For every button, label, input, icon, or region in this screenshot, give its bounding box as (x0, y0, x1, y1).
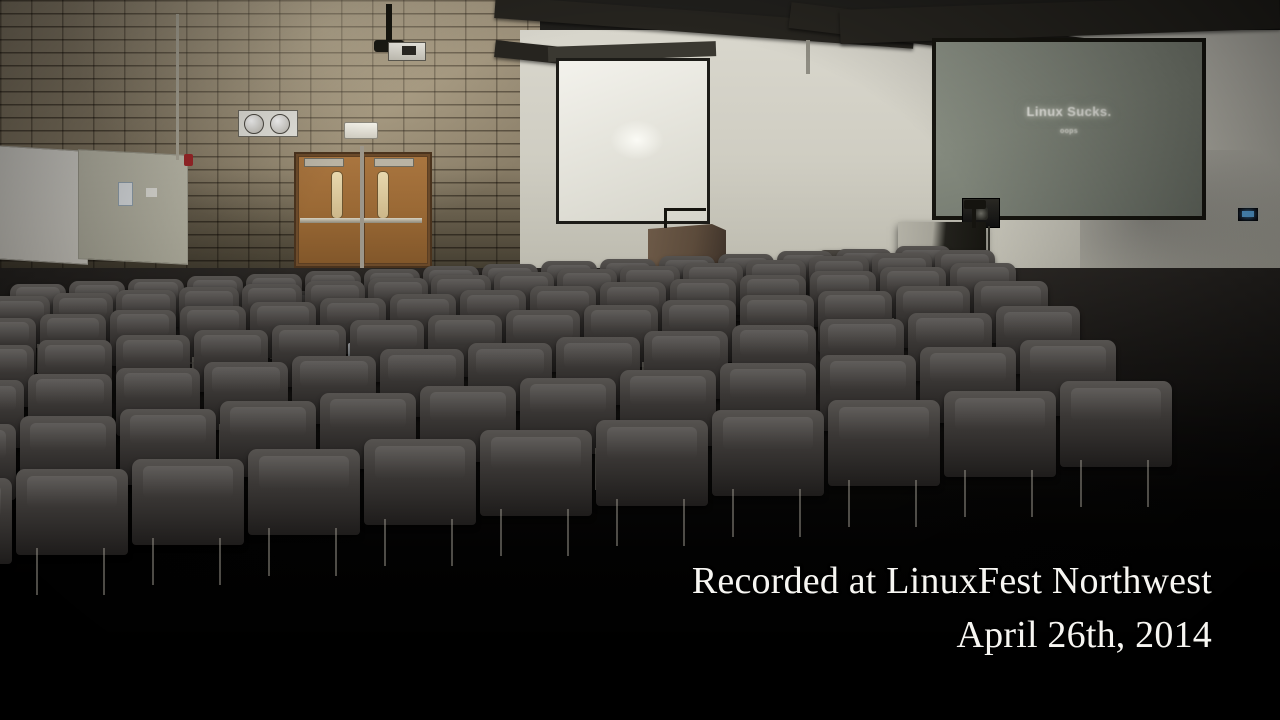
chair-leg (567, 509, 569, 556)
door-window (377, 171, 389, 219)
chair-leg (36, 548, 38, 595)
door-mullion (360, 146, 364, 270)
chair (596, 420, 708, 506)
door-closer (374, 158, 414, 167)
chair-leg (384, 519, 386, 566)
chair (0, 478, 12, 564)
chair-leg (451, 519, 453, 566)
door-window (331, 171, 343, 219)
chair-leg (616, 499, 618, 546)
door-leaf-left[interactable] (298, 156, 362, 264)
projector-lens-icon (402, 46, 416, 55)
screen-glare (610, 120, 664, 160)
chair (1060, 381, 1172, 467)
double-doors[interactable] (294, 152, 432, 268)
chair (480, 430, 592, 516)
pinboard (78, 149, 188, 265)
projection-screen-right: Linux Sucks. oops (932, 38, 1206, 220)
chair-leg (732, 489, 734, 536)
video-frame: Linux Sucks. oops Recorded at LinuxFest … (0, 0, 1280, 720)
chair (712, 410, 824, 496)
wall-dials (238, 110, 298, 137)
microphone-icon (964, 200, 986, 209)
pinboard-notice (146, 188, 157, 197)
chair-leg (799, 489, 801, 536)
microphone-arm (664, 208, 706, 211)
blue-indicator-sign (1238, 208, 1258, 221)
chair-leg (683, 499, 685, 546)
chair-leg (964, 470, 966, 517)
chair-leg (335, 528, 337, 575)
chair-leg (103, 548, 105, 595)
caption-line-1: Recorded at LinuxFest Northwest (692, 554, 1212, 608)
microphone-stand (664, 210, 667, 228)
chair (16, 469, 128, 555)
chair (364, 439, 476, 525)
chair-leg (1147, 460, 1149, 507)
chair-leg (219, 538, 221, 585)
chair-leg (915, 480, 917, 527)
door-leaf-right[interactable] (364, 156, 428, 264)
chair-leg (152, 538, 154, 585)
chair (828, 400, 940, 486)
chair (132, 459, 244, 545)
chair (248, 449, 360, 535)
pinboard-notice (118, 182, 133, 206)
slide-subtitle: oops (936, 128, 1202, 135)
chair (944, 391, 1056, 477)
chair-leg (848, 480, 850, 527)
door-closer (304, 158, 344, 167)
chair-leg (268, 528, 270, 575)
whiteboard (0, 145, 88, 265)
dial-gauge-icon (244, 114, 264, 134)
chair-leg (1031, 470, 1033, 517)
microphone-stand (972, 206, 976, 228)
fire-alarm-icon (184, 154, 193, 166)
caption-line-2: April 26th, 2014 (692, 608, 1212, 662)
dial-gauge-icon (270, 114, 290, 134)
chair-leg (500, 509, 502, 556)
projector-pole (386, 4, 392, 42)
beam-support-post (806, 40, 810, 74)
wall-sconce (344, 122, 378, 139)
caption-overlay: Recorded at LinuxFest Northwest April 26… (692, 554, 1212, 662)
chair-leg (1080, 460, 1082, 507)
slide-title: Linux Sucks. (936, 104, 1202, 119)
wall-conduit (176, 14, 179, 160)
